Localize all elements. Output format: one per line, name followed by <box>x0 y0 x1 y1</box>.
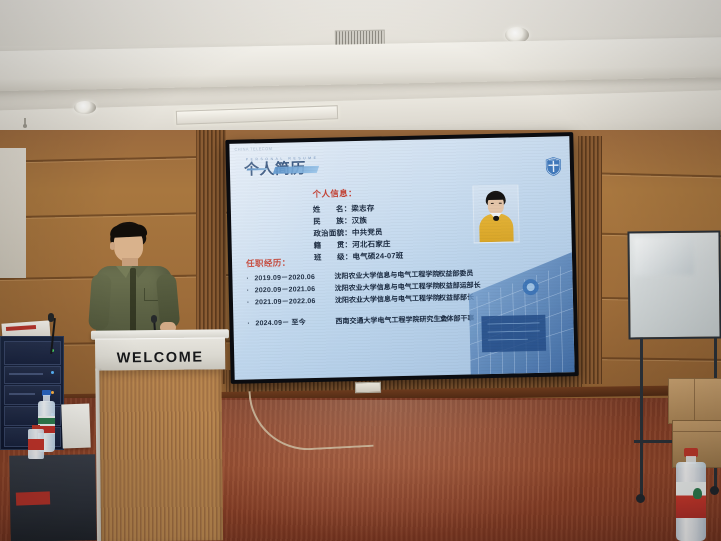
lectern-podium: WELCOME <box>95 329 227 541</box>
podium-front-panel: WELCOME <box>95 337 225 370</box>
downlight-icon <box>74 101 96 114</box>
ceiling <box>0 0 721 150</box>
info-value: 汉族 <box>352 215 368 224</box>
av-slot <box>9 373 43 375</box>
career-date: 2021.09－2022.06 <box>255 296 335 310</box>
whiteboard-reflection <box>633 237 693 276</box>
slide-surface: CHINA TELECOM PERSONAL RESUME 个人简历 SWJTU… <box>229 136 574 380</box>
personal-info-section: 个人信息： 姓 名：梁志存 民 族：汉族 政治面貌：中共党员 籍 贯：河北石家庄… <box>312 186 403 264</box>
career-org: 西南交通大学电气工程学院研究生会 <box>335 314 439 328</box>
sprinkler-icon <box>23 124 27 128</box>
wall-slat-strip-right <box>578 136 602 384</box>
bullet-icon: · <box>246 273 254 285</box>
av-unit[interactable] <box>4 366 61 384</box>
svg-text:SWJTU: SWJTU <box>549 158 558 161</box>
whiteboard-caster-icon <box>710 486 719 495</box>
portrait-photo <box>472 184 519 243</box>
podium-welcome-label: WELCOME <box>95 349 225 366</box>
podium-wood-body <box>99 369 223 541</box>
info-key: 政治面貌： <box>313 227 352 240</box>
career-org: 沈阳农业大学信息与电气工程学院 <box>335 293 439 307</box>
whiteboard-leg <box>640 330 643 498</box>
wall-seam <box>596 172 721 177</box>
bottle-label <box>28 439 44 450</box>
bottle-logo-icon <box>693 488 702 499</box>
bottle-label <box>676 482 706 518</box>
info-key: 籍 贯： <box>314 239 353 252</box>
water-bottle[interactable] <box>28 425 44 459</box>
portrait-fringe <box>487 193 505 200</box>
status-led-icon <box>51 371 54 374</box>
career-row: · 2024.09－ 至今 西南交通大学电气工程学院研究生会 文体部干事 <box>247 313 499 331</box>
career-history-section: 任职经历： · 2019.09－2020.06 沈阳农业大学信息与电气工程学院 … <box>246 252 500 331</box>
wall-left-light-panel <box>0 148 26 278</box>
whiteboard-caster-icon <box>636 494 645 503</box>
lecture-hall-scene: CHINA TELECOM PERSONAL RESUME 个人简历 SWJTU… <box>0 0 721 541</box>
microphone-icon[interactable] <box>151 315 157 323</box>
av-slot <box>9 393 35 395</box>
career-heading: 任职经历： <box>246 252 498 270</box>
info-value: 河北石家庄 <box>352 239 391 249</box>
info-key: 民 族： <box>313 215 352 228</box>
university-shield-emblem-icon: SWJTU <box>545 156 562 176</box>
water-bottle[interactable] <box>676 448 706 541</box>
led-display-screen[interactable]: CHINA TELECOM PERSONAL RESUME 个人简历 SWJTU… <box>225 132 578 384</box>
presenter-arm-left <box>88 273 112 330</box>
equipment-case-label <box>16 491 50 505</box>
portrait-bowtie <box>493 216 499 221</box>
microphone-icon[interactable] <box>48 313 54 322</box>
personal-info-heading: 个人信息： <box>312 186 402 200</box>
cardboard-box <box>668 378 721 424</box>
career-date: 2024.09－ 至今 <box>255 317 335 331</box>
table-card-stand <box>61 404 91 449</box>
presenter-ear <box>110 242 115 250</box>
bullet-icon: · <box>247 318 255 330</box>
box-seam <box>673 431 721 432</box>
bottle-label-green-band <box>38 418 55 424</box>
bullet-icon: · <box>247 297 255 309</box>
info-value: 梁志存 <box>351 203 374 213</box>
presenter-arm-right <box>156 273 181 329</box>
mobile-whiteboard[interactable] <box>627 231 721 340</box>
blueprint-decoration-icon <box>468 252 575 374</box>
box-seam <box>694 379 695 423</box>
title-accent-bar <box>273 166 319 174</box>
presenter-fringe <box>110 224 148 238</box>
info-key: 姓 名： <box>313 203 352 216</box>
bullet-icon: · <box>247 285 255 297</box>
wall-seam <box>596 357 721 361</box>
screen-watermark: CHINA TELECOM <box>234 146 272 152</box>
info-value: 中共党员 <box>352 227 383 237</box>
